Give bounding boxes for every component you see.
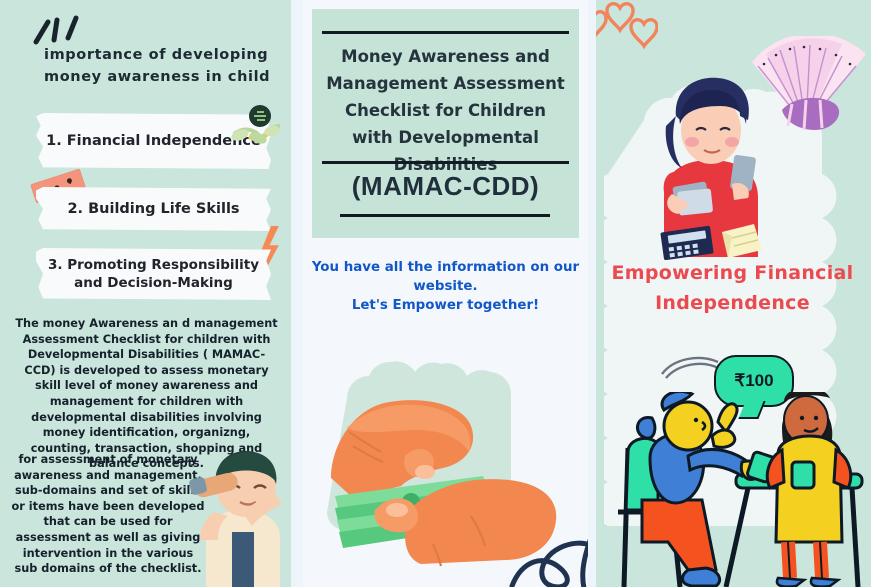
notepad-icon <box>718 222 764 260</box>
pointing-hand-icon <box>660 352 722 382</box>
page-title: Money Awareness and Management Assessmen… <box>322 43 569 178</box>
divider-bottom <box>340 214 550 217</box>
acronym-title: (MAMAC-CDD) <box>322 171 569 202</box>
list-item-label: 2. Building Life Skills <box>67 200 239 219</box>
title-box: Money Awareness and Management Assessmen… <box>312 9 579 238</box>
money-plant-icon <box>228 104 282 146</box>
calculator-icon <box>660 225 716 260</box>
hearts-icon <box>596 2 658 64</box>
boy-with-telescope-illustration <box>188 440 291 587</box>
left-panel: importance of developing money awareness… <box>0 0 291 587</box>
divider-middle <box>322 161 569 164</box>
list-item-label: 3. Promoting Responsibility and Decision… <box>36 256 271 292</box>
two-children-at-table-illustration <box>606 392 868 587</box>
center-panel: Money Awareness and Management Assessmen… <box>303 0 588 587</box>
panel-fold-right <box>588 0 596 587</box>
brochure-page: importance of developing money awareness… <box>0 0 871 587</box>
body-paragraph-2: for assessment of monetary awareness and… <box>10 452 206 577</box>
divider-top <box>322 31 569 34</box>
tagline: Empowering Financial Independence <box>610 258 855 318</box>
list-item[interactable]: 2. Building Life Skills <box>36 187 271 231</box>
left-headline: importance of developing money awareness… <box>44 44 284 88</box>
panel-fold-left <box>291 0 303 587</box>
call-to-action-text: You have all the information on our webs… <box>309 258 582 315</box>
right-panel: Empowering Financial Independence ₹100 <box>596 0 871 587</box>
navy-scribble-icon <box>508 520 588 587</box>
speech-bubble-label: ₹100 <box>734 371 773 391</box>
list-item[interactable]: 3. Promoting Responsibility and Decision… <box>36 248 271 300</box>
